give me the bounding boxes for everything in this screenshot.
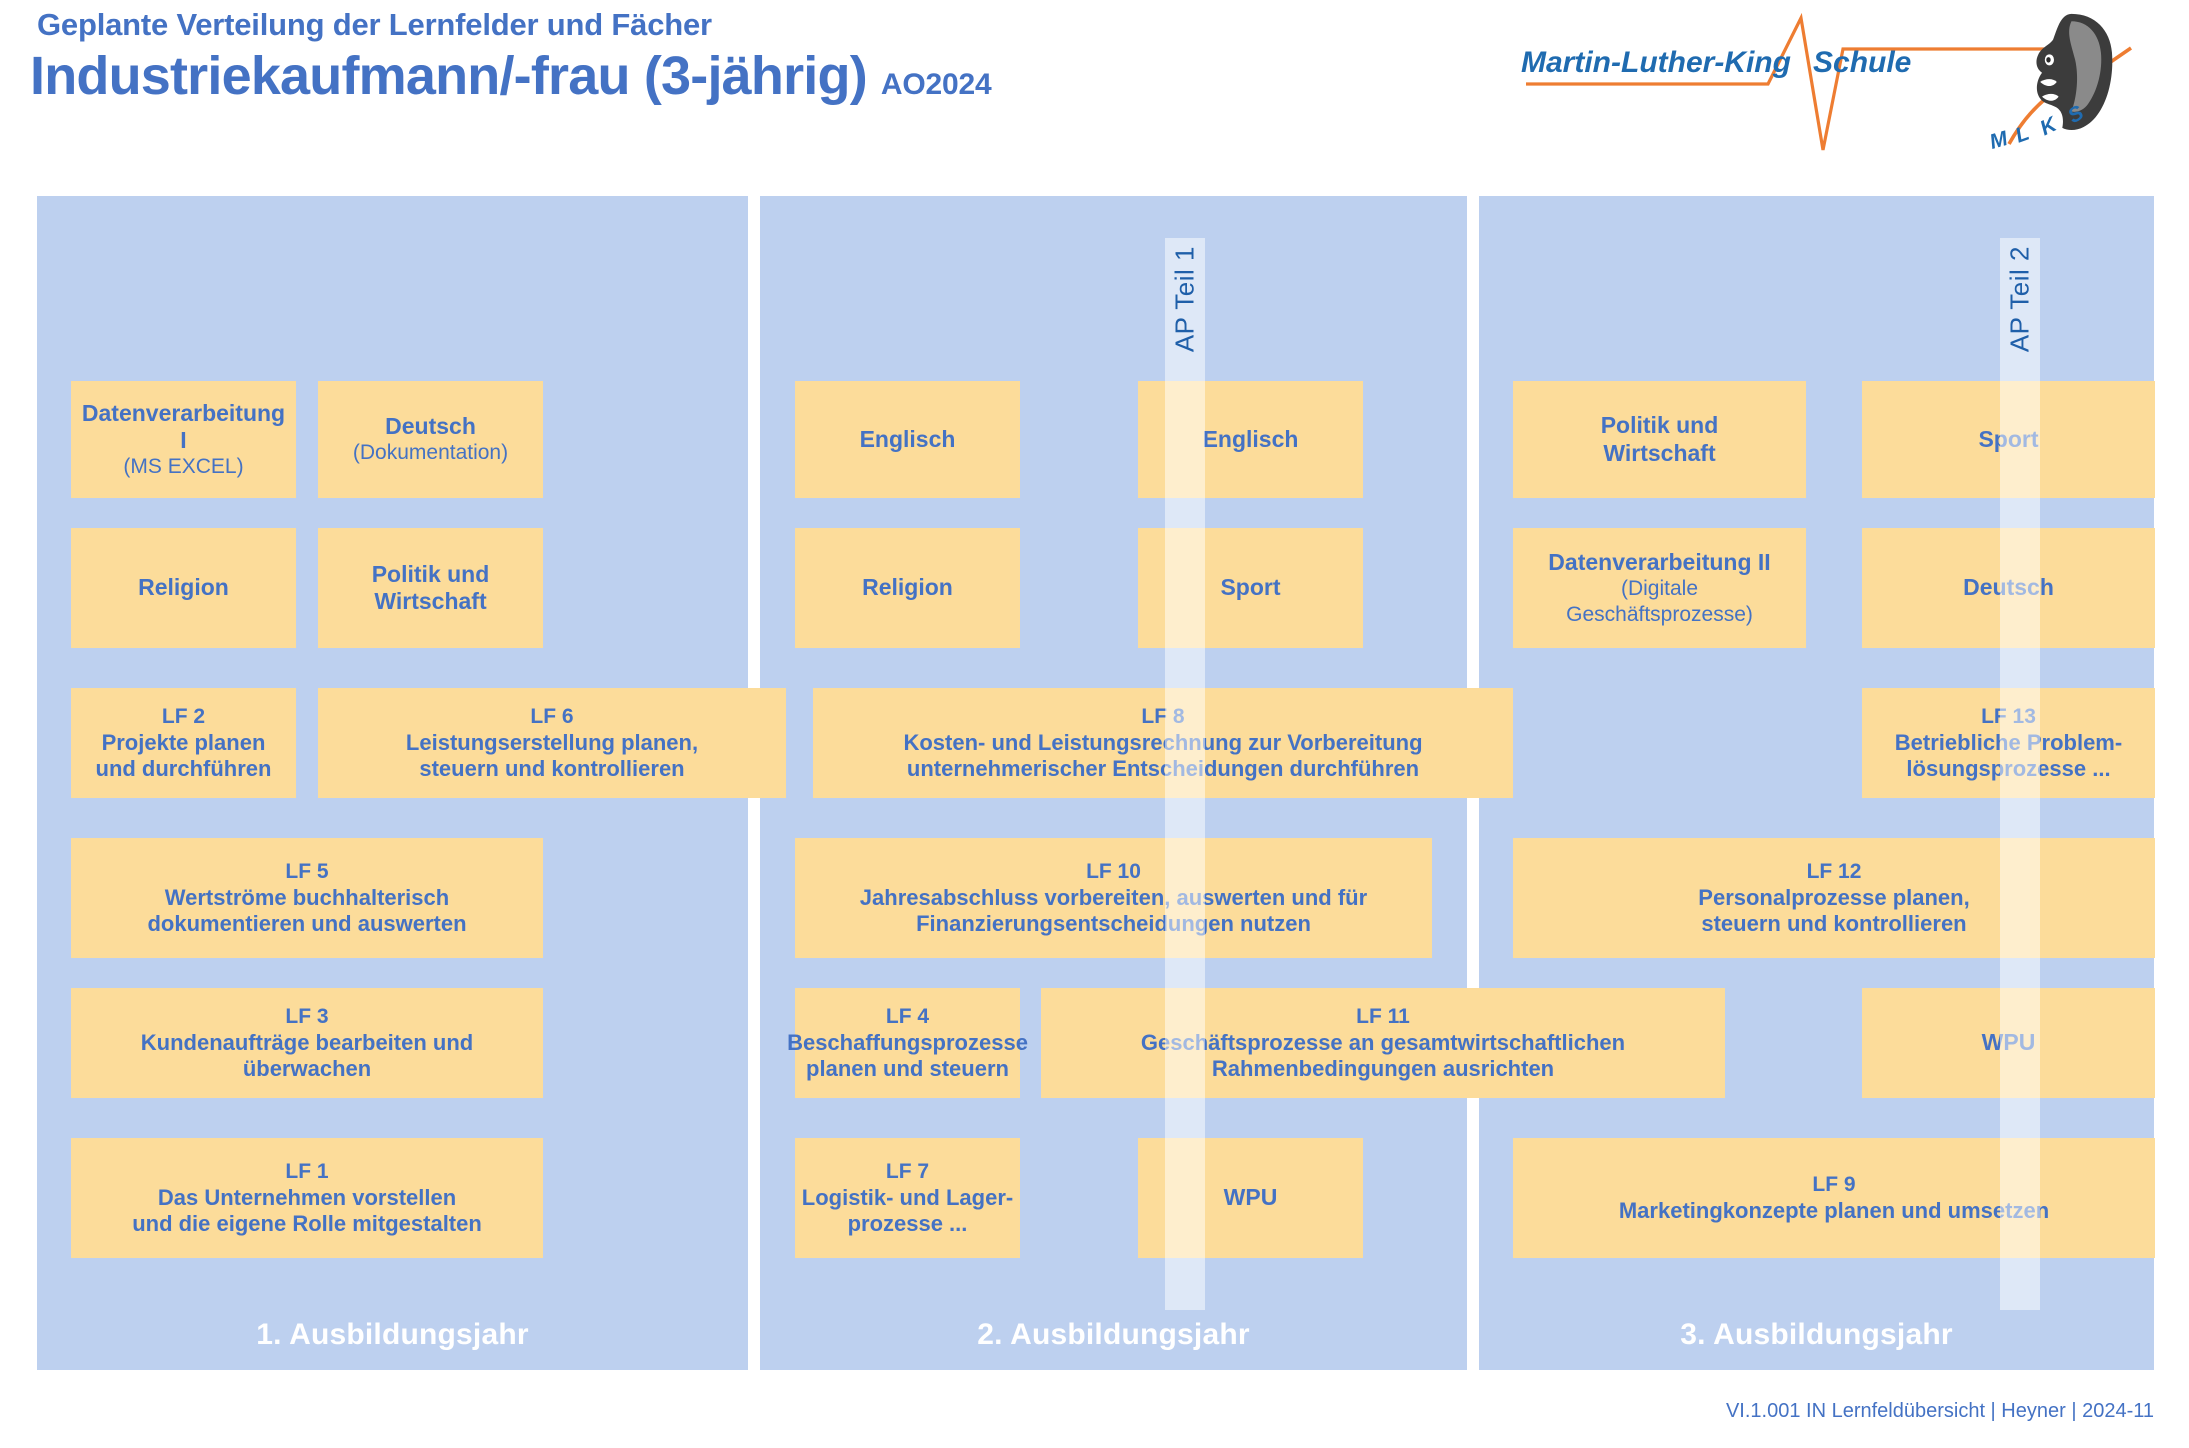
card-deutsch-dokumentation[interactable]: Deutsch (Dokumentation) [318, 381, 543, 498]
card-lf2[interactable]: LF 2 Projekte planen und durchführen [71, 688, 296, 798]
card-title: Betriebliche Problem- lösungsprozesse ..… [1895, 730, 2122, 782]
year-label-1: 1. Ausbildungsjahr [37, 1318, 748, 1352]
poster-root: Geplante Verteilung der Lernfelder und F… [0, 0, 2189, 1448]
page-title-suffix: AO2024 [881, 68, 992, 102]
card-title: Englisch [860, 426, 956, 453]
card-englisch-b[interactable]: Englisch [1138, 381, 1363, 498]
card-title: Politik und Wirtschaft [1601, 412, 1719, 466]
card-deutsch-y3[interactable]: Deutsch [1862, 528, 2155, 648]
card-lf-tag: LF 3 [285, 1004, 328, 1029]
logo-monogram: M L K S [1990, 109, 2120, 159]
card-lf-tag: LF 4 [886, 1004, 929, 1029]
card-title: Religion [862, 574, 953, 601]
card-lf9[interactable]: LF 9 Marketingkonzepte planen und umsetz… [1513, 1138, 2155, 1258]
card-lf-tag: LF 11 [1356, 1004, 1410, 1029]
card-title: Kosten- und Leistungsrechnung zur Vorber… [903, 730, 1422, 782]
card-title: Logistik- und Lager- prozesse ... [802, 1185, 1013, 1237]
card-lf-tag: LF 13 [1981, 704, 2036, 729]
card-lf-tag: LF 12 [1807, 859, 1862, 884]
footer-document-id: VI.1.001 IN Lernfeldübersicht | Heyner |… [1726, 1400, 2154, 1423]
card-lf13[interactable]: LF 13 Betriebliche Problem- lösungsproze… [1862, 688, 2155, 798]
monogram-letter-m: M [1987, 127, 2010, 155]
monogram-letter-l: L [2012, 122, 2032, 149]
card-religion-y1[interactable]: Religion [71, 528, 296, 648]
card-title: Leistungserstellung planen, steuern und … [406, 730, 698, 782]
card-sport-y3[interactable]: Sport [1862, 381, 2155, 498]
card-lf7[interactable]: LF 7 Logistik- und Lager- prozesse ... [795, 1138, 1020, 1258]
card-lf-tag: LF 9 [1812, 1172, 1855, 1197]
card-title: Beschaffungsprozesse planen und steuern [787, 1030, 1028, 1082]
card-lf-tag: LF 1 [285, 1159, 328, 1184]
card-title: Marketingkonzepte planen und umsetzen [1619, 1198, 2049, 1224]
card-lf4[interactable]: LF 4 Beschaffungsprozesse planen und ste… [795, 988, 1020, 1098]
card-title: Personalprozesse planen, steuern und kon… [1698, 885, 1969, 937]
card-wpu-y3[interactable]: WPU [1862, 988, 2155, 1098]
card-lf12[interactable]: LF 12 Personalprozesse planen, steuern u… [1513, 838, 2155, 958]
page-title: Industriekaufmann/-frau (3-jährig) AO202… [30, 45, 991, 107]
card-politik-wirtschaft-y3[interactable]: Politik und Wirtschaft [1513, 381, 1806, 498]
card-lf-tag: LF 8 [1141, 704, 1184, 729]
card-datenverarbeitung-1[interactable]: Datenverarbeitung I (MS EXCEL) [71, 381, 296, 498]
card-title: Kundenaufträge bearbeiten und überwachen [77, 1030, 537, 1082]
card-englisch-a[interactable]: Englisch [795, 381, 1020, 498]
card-title: Datenverarbeitung I [77, 400, 290, 454]
card-title: Geschäftsprozesse an gesamtwirtschaftlic… [1141, 1030, 1625, 1082]
year-label-3: 3. Ausbildungsjahr [1479, 1318, 2154, 1352]
card-title: WPU [1224, 1184, 1278, 1211]
card-title: WPU [1982, 1029, 2036, 1056]
card-subtitle: (Digitale Geschäftsprozesse) [1566, 576, 1753, 626]
curriculum-board: 1. Ausbildungsjahr 2. Ausbildungsjahr 3.… [37, 196, 2154, 1370]
card-religion-y2[interactable]: Religion [795, 528, 1020, 648]
card-lf-tag: LF 5 [285, 859, 328, 884]
card-title: Englisch [1203, 426, 1299, 453]
header-kicker: Geplante Verteilung der Lernfelder und F… [37, 7, 712, 43]
page-header: Geplante Verteilung der Lernfelder und F… [0, 0, 2189, 190]
card-lf5[interactable]: LF 5 Wertströme buchhalterisch dokumenti… [71, 838, 543, 958]
card-subtitle: (Dokumentation) [353, 440, 508, 465]
card-title: Politik und Wirtschaft [372, 561, 490, 615]
card-lf10[interactable]: LF 10 Jahresabschluss vorbereiten, auswe… [795, 838, 1432, 958]
card-lf-tag: LF 6 [530, 704, 573, 729]
card-lf11[interactable]: LF 11 Geschäftsprozesse an gesamtwirtsch… [1041, 988, 1725, 1098]
card-lf-tag: LF 7 [886, 1159, 929, 1184]
card-sport-y2[interactable]: Sport [1138, 528, 1363, 648]
card-lf6[interactable]: LF 6 Leistungserstellung planen, steuern… [318, 688, 786, 798]
card-lf-tag: LF 2 [162, 704, 205, 729]
card-title: Jahresabschluss vorbereiten, auswerten u… [860, 885, 1367, 937]
school-logo: Martin-Luther-King Schule M L K S [1471, 4, 2171, 164]
monogram-letter-k: K [2037, 113, 2061, 141]
logo-name-left: Martin-Luther-King [1521, 46, 1791, 80]
card-title: Projekte planen und durchführen [96, 730, 272, 782]
card-lf8[interactable]: LF 8 Kosten- und Leistungsrechnung zur V… [813, 688, 1513, 798]
year-label-2: 2. Ausbildungsjahr [760, 1318, 1467, 1352]
card-title: Datenverarbeitung II [1548, 549, 1770, 576]
card-politik-wirtschaft-y1[interactable]: Politik und Wirtschaft [318, 528, 543, 648]
card-datenverarbeitung-2[interactable]: Datenverarbeitung II (Digitale Geschäfts… [1513, 528, 1806, 648]
card-lf-tag: LF 10 [1086, 859, 1141, 884]
card-title: Deutsch [1963, 574, 2054, 601]
logo-name-right: Schule [1813, 46, 1911, 80]
card-lf1[interactable]: LF 1 Das Unternehmen vorstellen und die … [71, 1138, 543, 1258]
card-title: Sport [1978, 426, 2038, 453]
card-title: Sport [1220, 574, 1280, 601]
card-title: Wertströme buchhalterisch dokumentieren … [147, 885, 466, 937]
card-wpu-y2[interactable]: WPU [1138, 1138, 1363, 1258]
card-title: Religion [138, 574, 229, 601]
page-title-main: Industriekaufmann/-frau (3-jährig) [30, 45, 867, 107]
card-title: Deutsch [385, 413, 476, 440]
card-subtitle: (MS EXCEL) [123, 454, 243, 479]
card-title: Das Unternehmen vorstellen und die eigen… [132, 1185, 482, 1237]
card-lf3[interactable]: LF 3 Kundenaufträge bearbeiten und überw… [71, 988, 543, 1098]
